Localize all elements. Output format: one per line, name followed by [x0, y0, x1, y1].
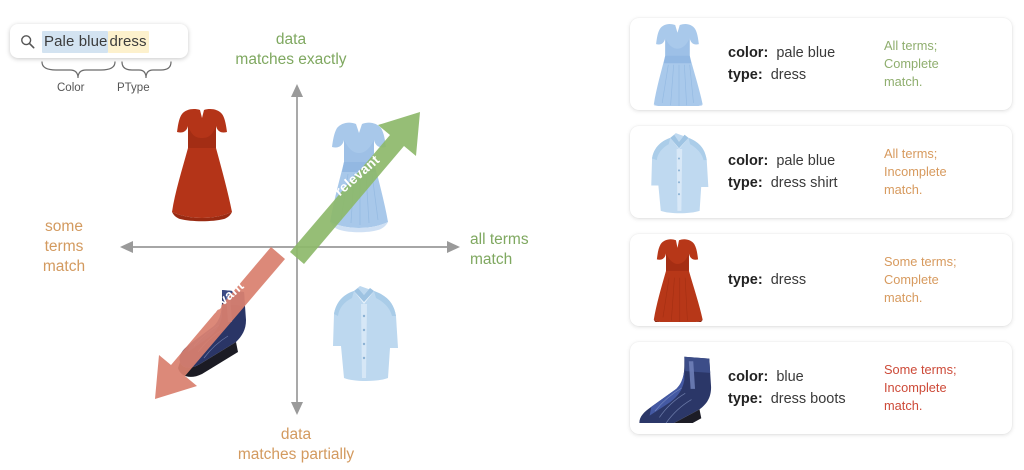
verdict-line: Some terms; [884, 253, 957, 271]
verdict-line: match. [884, 181, 947, 199]
verdict-line: Some terms; [884, 361, 957, 379]
point-red-dress [172, 109, 232, 221]
verdict-line: match. [884, 397, 957, 415]
attribute-value: dress boots [771, 391, 846, 407]
product-attributes: color: pale blue type: dress [728, 42, 878, 86]
match-verdict: All terms; Complete match. [878, 37, 939, 91]
attribute-key: type: [728, 67, 763, 83]
attribute-key: type: [728, 272, 763, 288]
verdict-line: All terms; [884, 37, 939, 55]
verdict-line: match. [884, 73, 939, 91]
attribute-value: dress [771, 272, 806, 288]
attribute-row: type: dress [728, 269, 878, 291]
attribute-value: pale blue [776, 153, 835, 169]
attribute-row: type: dress boots [728, 388, 878, 410]
attribute-key: color: [728, 369, 768, 385]
attribute-key: type: [728, 391, 763, 407]
irrelevant-arrow [155, 247, 285, 399]
attribute-row: type: dress shirt [728, 172, 878, 194]
quadrant-chart: data matches exactly data matches partia… [0, 0, 610, 470]
verdict-line: Incomplete [884, 379, 957, 397]
attribute-key: color: [728, 45, 768, 61]
attribute-key: color: [728, 153, 768, 169]
verdict-line: match. [884, 289, 957, 307]
results-list: color: pale blue type: dress All terms; … [630, 18, 1012, 450]
product-thumbnail-red-dress [630, 236, 728, 324]
attribute-key: type: [728, 175, 763, 191]
product-attributes: type: dress [728, 269, 878, 291]
attribute-row: color: pale blue [728, 42, 878, 64]
verdict-line: Complete [884, 271, 957, 289]
match-verdict: Some terms; Complete match. [878, 253, 957, 307]
verdict-line: All terms; [884, 145, 947, 163]
result-card[interactable]: color: pale blue type: dress shirt All t… [630, 126, 1012, 218]
product-thumbnail-blue-dress-boots [630, 344, 728, 432]
product-thumbnail-pale-blue-dress [630, 20, 728, 108]
product-attributes: color: pale blue type: dress shirt [728, 150, 878, 194]
attribute-value: dress [771, 67, 806, 83]
result-card[interactable]: type: dress Some terms; Complete match. [630, 234, 1012, 326]
match-verdict: Some terms; Incomplete match. [878, 361, 957, 415]
relevance-quadrant-illustration: Pale bluedress Color PType data matches … [0, 0, 1024, 470]
verdict-line: Complete [884, 55, 939, 73]
quadrant-canvas [0, 0, 610, 470]
product-thumbnail-pale-blue-dress-shirt [630, 128, 728, 216]
match-verdict: All terms; Incomplete match. [878, 145, 947, 199]
attribute-value: pale blue [776, 45, 835, 61]
product-attributes: color: blue type: dress boots [728, 366, 878, 410]
attribute-row: color: blue [728, 366, 878, 388]
result-card[interactable]: color: pale blue type: dress All terms; … [630, 18, 1012, 110]
point-blue-shirt [333, 286, 398, 381]
attribute-row: color: pale blue [728, 150, 878, 172]
verdict-line: Incomplete [884, 163, 947, 181]
attribute-value: blue [776, 369, 803, 385]
result-card[interactable]: color: blue type: dress boots Some terms… [630, 342, 1012, 434]
attribute-value: dress shirt [771, 175, 838, 191]
attribute-row: type: dress [728, 64, 878, 86]
